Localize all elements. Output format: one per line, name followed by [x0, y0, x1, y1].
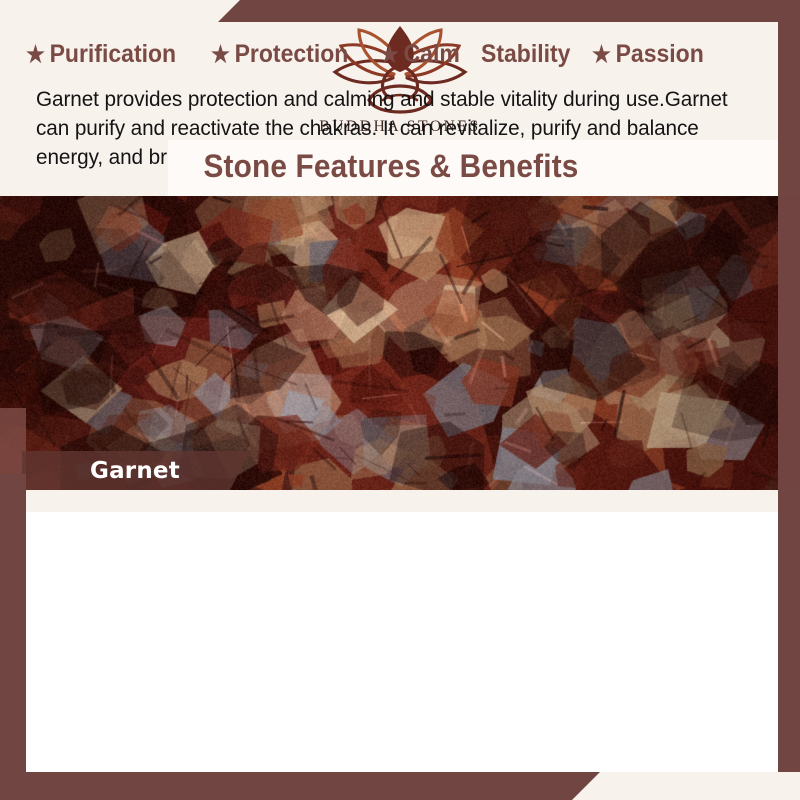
- benefit-item: Stability: [481, 40, 570, 69]
- benefit-item: ★Purification: [26, 40, 176, 69]
- poster-root: BUDDHA STONES Stone Features & Benefits …: [0, 0, 800, 800]
- benefit-label: Protection: [235, 40, 349, 69]
- benefit-label: Passion: [616, 40, 704, 69]
- frame-bottom-bar: [0, 772, 600, 800]
- frame-right-photo-overlay: [778, 196, 800, 490]
- star-icon: ★: [211, 43, 230, 66]
- page-title: Stone Features & Benefits: [27, 148, 754, 185]
- benefit-label: Calm: [404, 40, 460, 69]
- benefit-item: ★Passion: [592, 40, 704, 69]
- content-card: [26, 512, 786, 772]
- star-icon: ★: [592, 43, 611, 66]
- star-icon: ★: [26, 43, 45, 66]
- stone-name: Garnet: [90, 458, 180, 484]
- content-section: [0, 490, 786, 772]
- garnet-crystals-photo: [0, 196, 786, 490]
- frame-left-bar: [0, 474, 26, 800]
- benefits-row: ★Purification★Protection★CalmStability★P…: [26, 40, 782, 69]
- benefit-label: Purification: [50, 40, 177, 69]
- benefit-item: ★Calm: [380, 40, 460, 69]
- benefit-item: ★Protection: [211, 40, 348, 69]
- frame-top-bar: [218, 0, 800, 22]
- benefit-label: Stability: [481, 40, 570, 69]
- star-icon: ★: [380, 43, 399, 66]
